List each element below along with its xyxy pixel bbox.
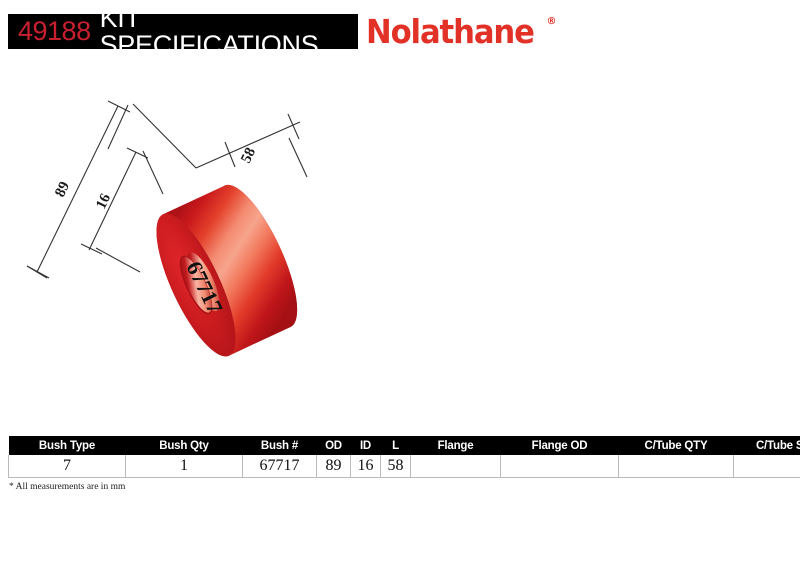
cell-bush-qty: 1	[126, 455, 243, 478]
dim-tick-16-top	[127, 148, 148, 158]
brand-name: Nolathane	[366, 15, 534, 48]
column-header-ctube-size: C/Tube Size	[734, 436, 800, 455]
column-header-id: ID	[351, 436, 381, 455]
nolathane-logo: Nolathane ®	[366, 15, 556, 48]
column-header-flange: Flange	[411, 436, 501, 455]
cell-ctube-qty	[619, 455, 734, 478]
column-header-od: OD	[317, 436, 351, 455]
cell-l: 58	[381, 455, 411, 478]
kit-number: 49188	[18, 18, 91, 45]
column-header-bush-number: Bush #	[243, 436, 317, 455]
kit-specifications-header-bar: 49188 KIT SPECIFICATIONS	[8, 14, 358, 49]
table-row: 7 1 67717 89 16 58	[9, 455, 800, 478]
column-header-bush-type: Bush Type	[9, 436, 126, 455]
kit-specifications-title: KIT SPECIFICATIONS	[100, 5, 358, 59]
table-header-row: Bush Type Bush Qty Bush # OD ID L Flange…	[9, 436, 800, 455]
dimension-label-89: 89	[52, 179, 73, 199]
column-header-l: L	[381, 436, 411, 455]
column-header-bush-qty: Bush Qty	[126, 436, 243, 455]
cell-ctube-size	[734, 455, 800, 478]
measurements-footnote: * All measurements are in mm	[9, 482, 125, 492]
dim-ext-89-a	[108, 105, 128, 149]
dim-tick-89-bottom	[27, 266, 49, 278]
cell-bush-type: 7	[9, 455, 126, 478]
column-header-flange-od: Flange OD	[501, 436, 619, 455]
dim-tick-89-top	[108, 101, 130, 112]
cell-od: 89	[317, 455, 351, 478]
bushing-3d-model	[141, 175, 312, 365]
column-header-ctube-qty: C/Tube QTY	[619, 436, 734, 455]
dimension-length: 58	[133, 104, 307, 177]
cell-flange-od	[501, 455, 619, 478]
dim-ext-58-b	[289, 138, 307, 177]
dimension-outer-diameter: 89	[27, 101, 130, 278]
specifications-table: Bush Type Bush Qty Bush # OD ID L Flange…	[8, 436, 800, 478]
cell-id: 16	[351, 455, 381, 478]
dim-ext-58-a	[133, 104, 196, 168]
dim-line-89	[37, 106, 118, 272]
cell-flange	[411, 455, 501, 478]
cell-bush-number: 67717	[243, 455, 317, 478]
dim-ext-16-b	[96, 248, 140, 272]
dimension-inner-diameter: 16	[81, 148, 163, 272]
bushing-diagram: 89 16 58	[0, 70, 400, 400]
dimension-label-16: 16	[93, 191, 114, 212]
registered-trademark-icon: ®	[546, 17, 556, 27]
